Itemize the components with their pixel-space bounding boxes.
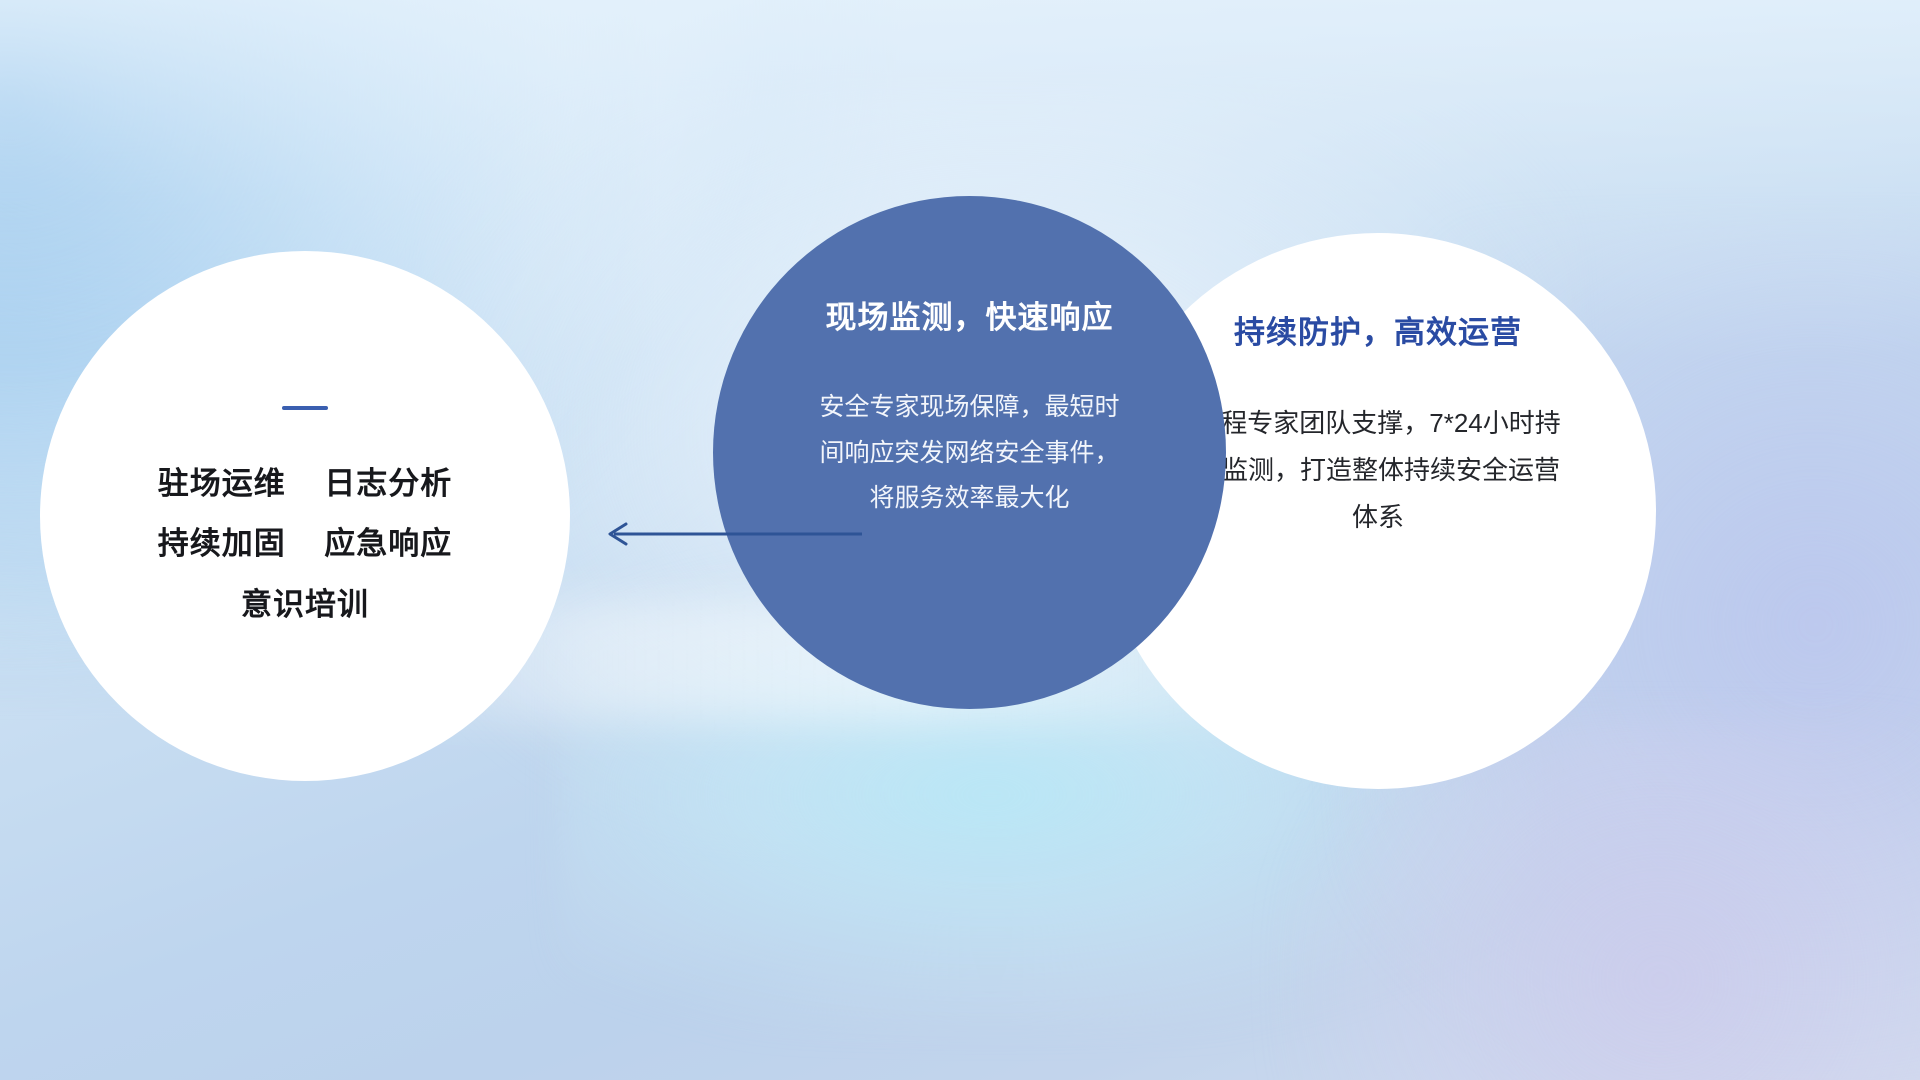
- capability-tag-list: 驻场运维 日志分析 持续加固 应急响应 意识培训: [40, 454, 570, 635]
- capability-tag-line: 意识培训: [40, 575, 570, 635]
- continuous-protection-title: 持续防护，高效运营: [1234, 307, 1522, 352]
- arrow-left-icon: [596, 516, 866, 552]
- continuous-protection-body: 远程专家团队支撑，7*24小时持续监测，打造整体持续安全运营体系: [1187, 400, 1569, 540]
- capabilities-circle[interactable]: 驻场运维 日志分析 持续加固 应急响应 意识培训: [40, 251, 570, 781]
- onsite-monitoring-body: 安全专家现场保障，最短时间响应突发网络安全事件，将服务效率最大化: [810, 385, 1130, 522]
- divider-rule: [282, 406, 328, 410]
- capability-tag-line: 驻场运维 日志分析: [40, 454, 570, 514]
- onsite-monitoring-title: 现场监测，快速响应: [826, 292, 1114, 337]
- slide-canvas: 驻场运维 日志分析 持续加固 应急响应 意识培训 现场监测，快速响应 安全专家现…: [0, 0, 1920, 1080]
- capability-tag-line: 持续加固 应急响应: [40, 514, 570, 574]
- onsite-monitoring-circle[interactable]: 现场监测，快速响应 安全专家现场保障，最短时间响应突发网络安全事件，将服务效率最…: [713, 196, 1226, 709]
